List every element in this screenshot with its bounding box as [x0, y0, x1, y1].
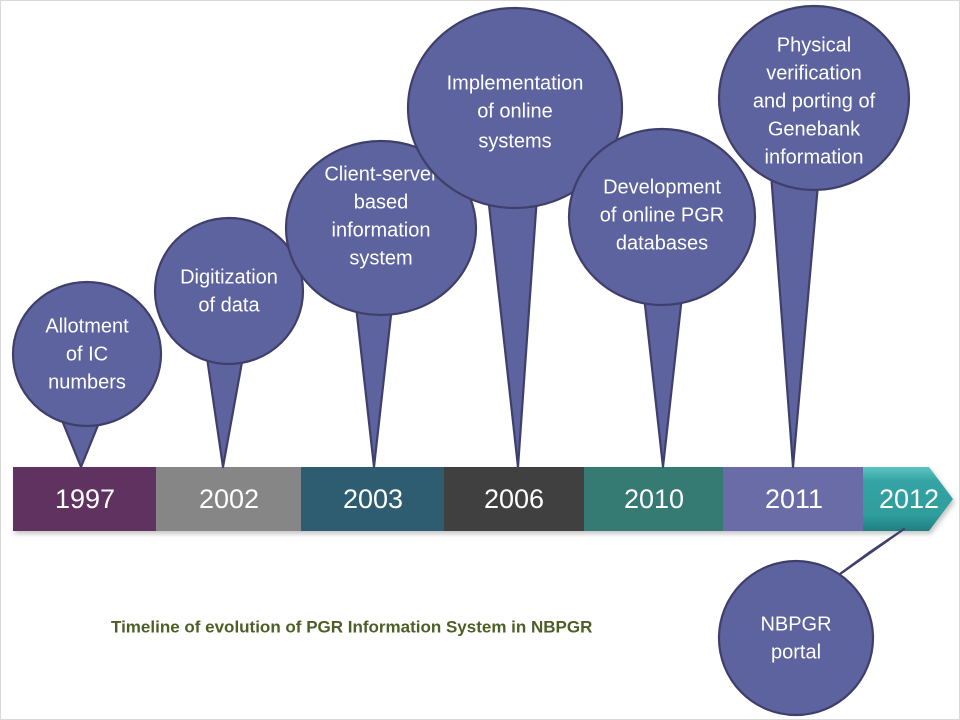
year-label-2011: 2011 — [765, 484, 823, 514]
bubble-line: Physical — [777, 34, 851, 56]
bubble-line: systems — [478, 130, 551, 152]
bubble-line: Client-server — [324, 163, 438, 185]
bubble-line: NBPGR — [760, 613, 831, 635]
bubble-line: Allotment — [45, 315, 129, 337]
bubble-development-of-online-pgr-databases[interactable]: Development of online PGR databases — [569, 129, 755, 305]
year-label-2003: 2003 — [343, 484, 403, 514]
tail-2006 — [488, 196, 537, 467]
year-label-2002: 2002 — [199, 484, 259, 514]
bubble-line: and porting of — [753, 90, 876, 112]
bubble-shape — [719, 561, 873, 715]
bubble-line: information — [332, 219, 431, 241]
year-label-2010: 2010 — [624, 484, 684, 514]
bubble-line: verification — [766, 62, 862, 84]
bubble-line: Digitization — [180, 266, 278, 288]
diagram-caption: Timeline of evolution of PGR Information… — [111, 617, 592, 636]
tail-2011 — [771, 173, 819, 467]
bubble-line: system — [349, 247, 412, 269]
bubble-line: of online PGR — [600, 204, 725, 226]
bubble-line: portal — [771, 641, 821, 663]
year-label-2012: 2012 — [879, 484, 939, 514]
bubble-allotment-of-ic-numbers[interactable]: Allotment of IC numbers — [13, 282, 161, 426]
bubble-line: of data — [198, 294, 260, 316]
bubble-shape — [155, 218, 303, 364]
bubble-line: of IC — [66, 343, 108, 365]
tail-portal — [833, 529, 904, 579]
year-label-1997: 1997 — [55, 484, 115, 514]
bubble-line: information — [765, 146, 864, 168]
year-label-2006: 2006 — [484, 484, 544, 514]
tail-2010 — [644, 296, 682, 467]
bubble-line: databases — [616, 232, 708, 254]
bubble-line: Implementation — [447, 72, 584, 94]
timeline-svg: 1997 2002 2003 2006 2010 2011 2012 Allot… — [1, 1, 960, 720]
bubble-line: numbers — [48, 371, 126, 393]
bubble-line: Genebank — [768, 118, 861, 140]
bubble-nbpgr-portal[interactable]: NBPGR portal — [719, 561, 873, 715]
timeline-diagram-canvas: 1997 2002 2003 2006 2010 2011 2012 Allot… — [0, 0, 960, 720]
tail-2002 — [206, 351, 244, 467]
bubble-physical-verification-genebank[interactable]: Physical verification and porting of Gen… — [719, 6, 909, 190]
tail-2003 — [356, 306, 392, 467]
callout-bubbles: Allotment of IC numbers Digitization of … — [13, 6, 909, 715]
bubble-line: Development — [603, 176, 721, 198]
bubble-line: of online — [477, 100, 553, 122]
bubble-line: based — [354, 191, 409, 213]
bubble-digitization-of-data[interactable]: Digitization of data — [155, 218, 303, 364]
